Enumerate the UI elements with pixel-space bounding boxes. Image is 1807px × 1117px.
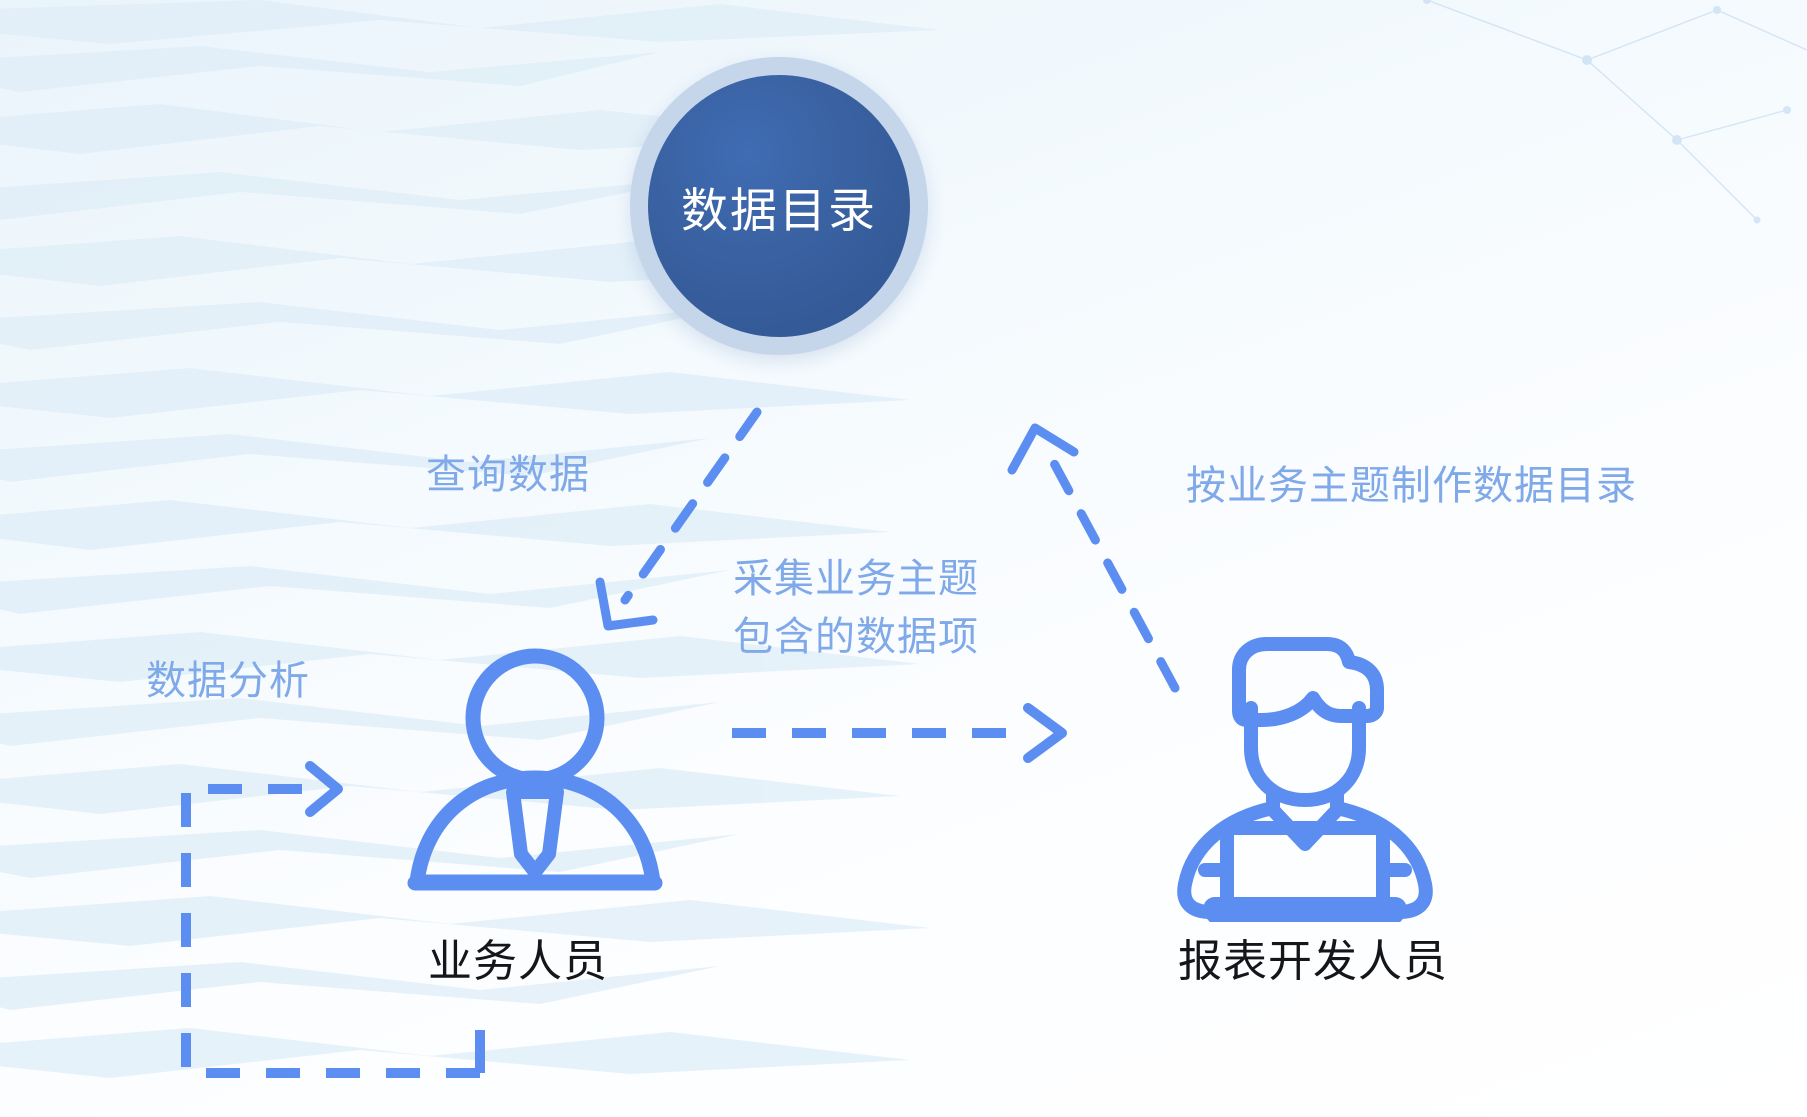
flow-label-data-analysis: 数据分析 (146, 652, 310, 710)
background-network-icon (1387, 0, 1807, 290)
actor-label-report-developer: 报表开发人员 (1178, 925, 1448, 989)
flow-label-collect-items: 采集业务主题 包含的数据项 (733, 550, 979, 666)
arrow-build-catalog (1012, 428, 1175, 688)
node-data-catalog-label: 数据目录 (681, 172, 877, 241)
report-developer-icon[interactable] (1155, 612, 1455, 922)
diagram-canvas: 数据目录 查询数据 按业务主题制作数据目录 采集业务主题 包含的数据项 数据分析… (0, 0, 1807, 1117)
node-data-catalog-body: 数据目录 (648, 75, 910, 337)
business-person-icon[interactable] (395, 640, 675, 920)
flow-label-build-catalog: 按业务主题制作数据目录 (1186, 457, 1637, 515)
arrow-collect-items (732, 708, 1062, 758)
flow-label-collect-items-line2: 包含的数据项 (733, 608, 979, 666)
flow-label-collect-items-line1: 采集业务主题 (733, 550, 979, 608)
background-streaks (0, 0, 1260, 1117)
node-data-catalog[interactable]: 数据目录 (630, 57, 928, 355)
flow-label-query-data: 查询数据 (426, 446, 590, 504)
actor-label-business-person: 业务人员 (428, 925, 608, 989)
